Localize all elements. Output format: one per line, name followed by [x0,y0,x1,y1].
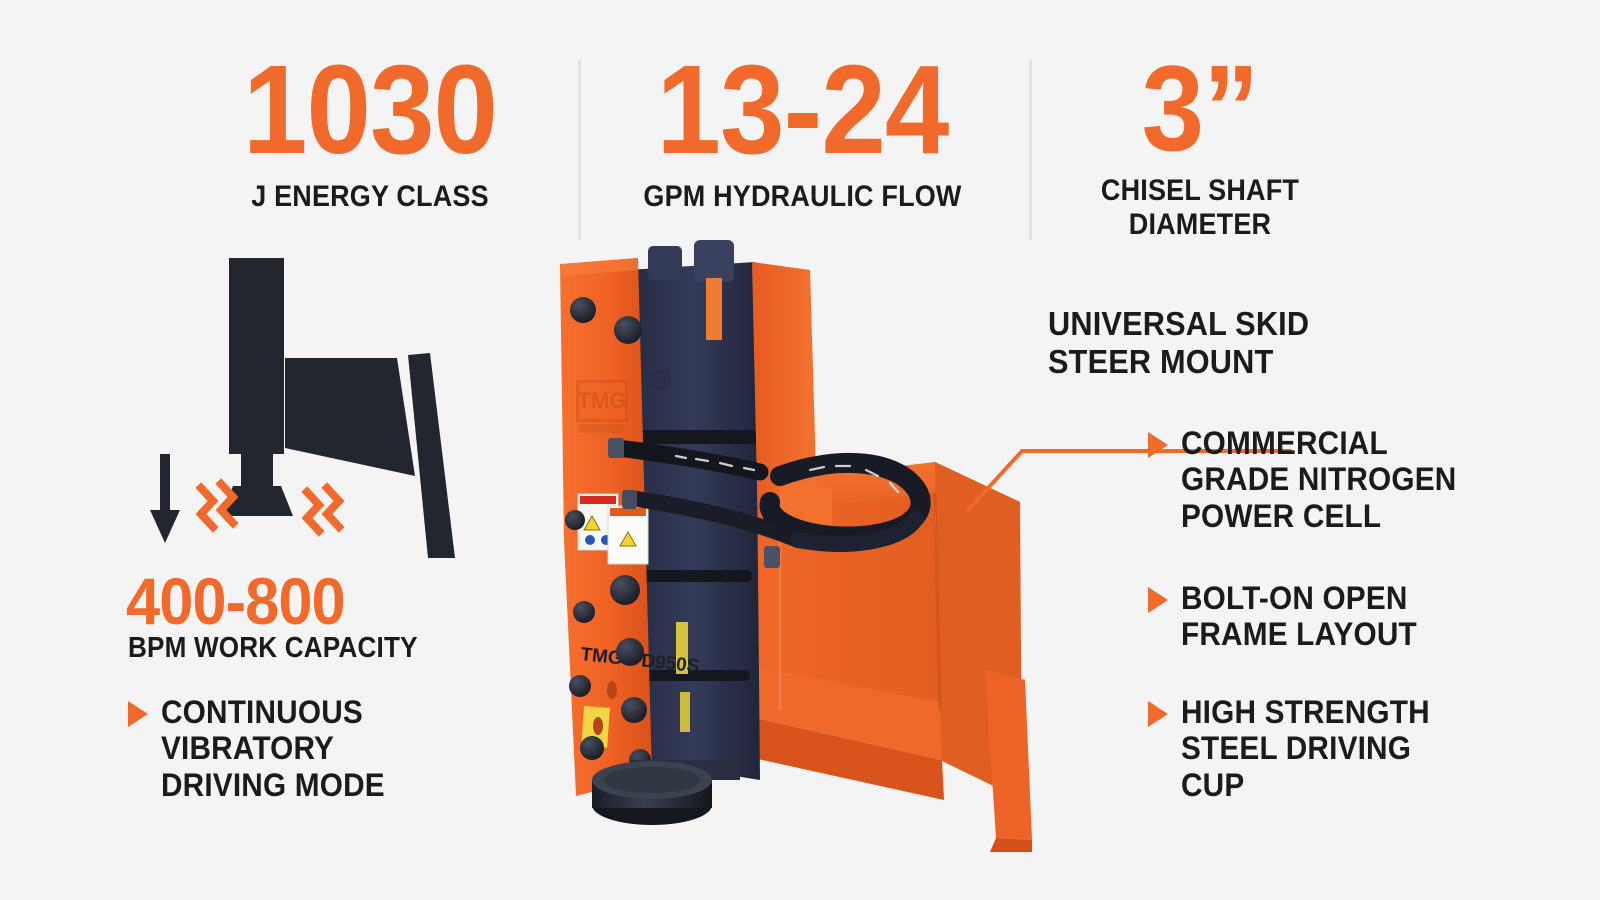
feature-line-3: DRIVING MODE [161,767,385,803]
stat-label-hydraulic-flow: GPM HYDRAULIC FLOW [625,180,981,214]
stat-label-bpm-capacity: BPM WORK CAPACITY [128,632,418,665]
stat-value-chisel-diameter: 3” [1062,52,1338,164]
stat-value-energy-class: 1030 [204,52,535,168]
product-image-pile-driver: TMG TMG-PD950S [480,240,1100,860]
stat-block-chisel-diameter: 3” CHISEL SHAFT DIAMETER [1050,52,1350,241]
svg-text:TMG: TMG [578,388,627,413]
stat-label-chisel-diameter-line2: DIAMETER [1065,208,1335,242]
triangle-right-icon [1148,701,1168,727]
feature-line-2: GRADE NITROGEN [1181,461,1456,497]
triangle-right-icon [128,701,148,727]
callout-line-2: STEER MOUNT [1048,343,1273,380]
feature-bullet-bolt-on-open-frame[interactable]: BOLT-ON OPEN FRAME LAYOUT [1148,580,1528,653]
triangle-right-icon [1148,587,1168,613]
stat-divider-2 [1029,60,1032,240]
feature-line-3: CUP [1181,767,1244,803]
stat-block-energy-class: 1030 J ENERGY CLASS [190,52,550,214]
tmg-brand-emboss: TMG [576,380,628,433]
feature-line-1: COMMERCIAL [1181,425,1388,461]
feature-line-1: BOLT-ON OPEN [1181,580,1408,616]
infographic-canvas: 1030 J ENERGY CLASS 13-24 GPM HYDRAULIC … [0,0,1600,900]
callout-line-1: UNIVERSAL SKID [1048,305,1309,342]
feature-line-2: STEEL DRIVING [1181,730,1411,766]
feature-line-3: POWER CELL [1181,498,1381,534]
feature-line-2: VIBRATORY [161,730,334,766]
stat-block-hydraulic-flow: 13-24 GPM HYDRAULIC FLOW [605,52,1000,214]
callout-universal-skid-steer-mount: UNIVERSAL SKID STEER MOUNT [1048,305,1309,380]
stat-value-bpm-capacity: 400-800 [126,568,345,634]
feature-bullet-nitrogen-power-cell[interactable]: COMMERCIAL GRADE NITROGEN POWER CELL [1148,425,1528,534]
feature-line-2: FRAME LAYOUT [1181,616,1417,652]
feature-line-1: CONTINUOUS [161,694,363,730]
triangle-right-icon [1148,432,1168,458]
feature-bullet-continuous-vibratory[interactable]: CONTINUOUS VIBRATORY DRIVING MODE [128,694,458,803]
feature-line-1: HIGH STRENGTH [1181,694,1430,730]
feature-bullet-steel-driving-cup[interactable]: HIGH STRENGTH STEEL DRIVING CUP [1148,694,1528,803]
stat-value-hydraulic-flow: 13-24 [621,52,984,168]
stat-label-chisel-diameter-line1: CHISEL SHAFT [1065,174,1335,208]
stat-divider-1 [578,60,581,240]
steel-driving-cup [592,760,740,825]
stat-label-energy-class: J ENERGY CLASS [208,180,532,214]
